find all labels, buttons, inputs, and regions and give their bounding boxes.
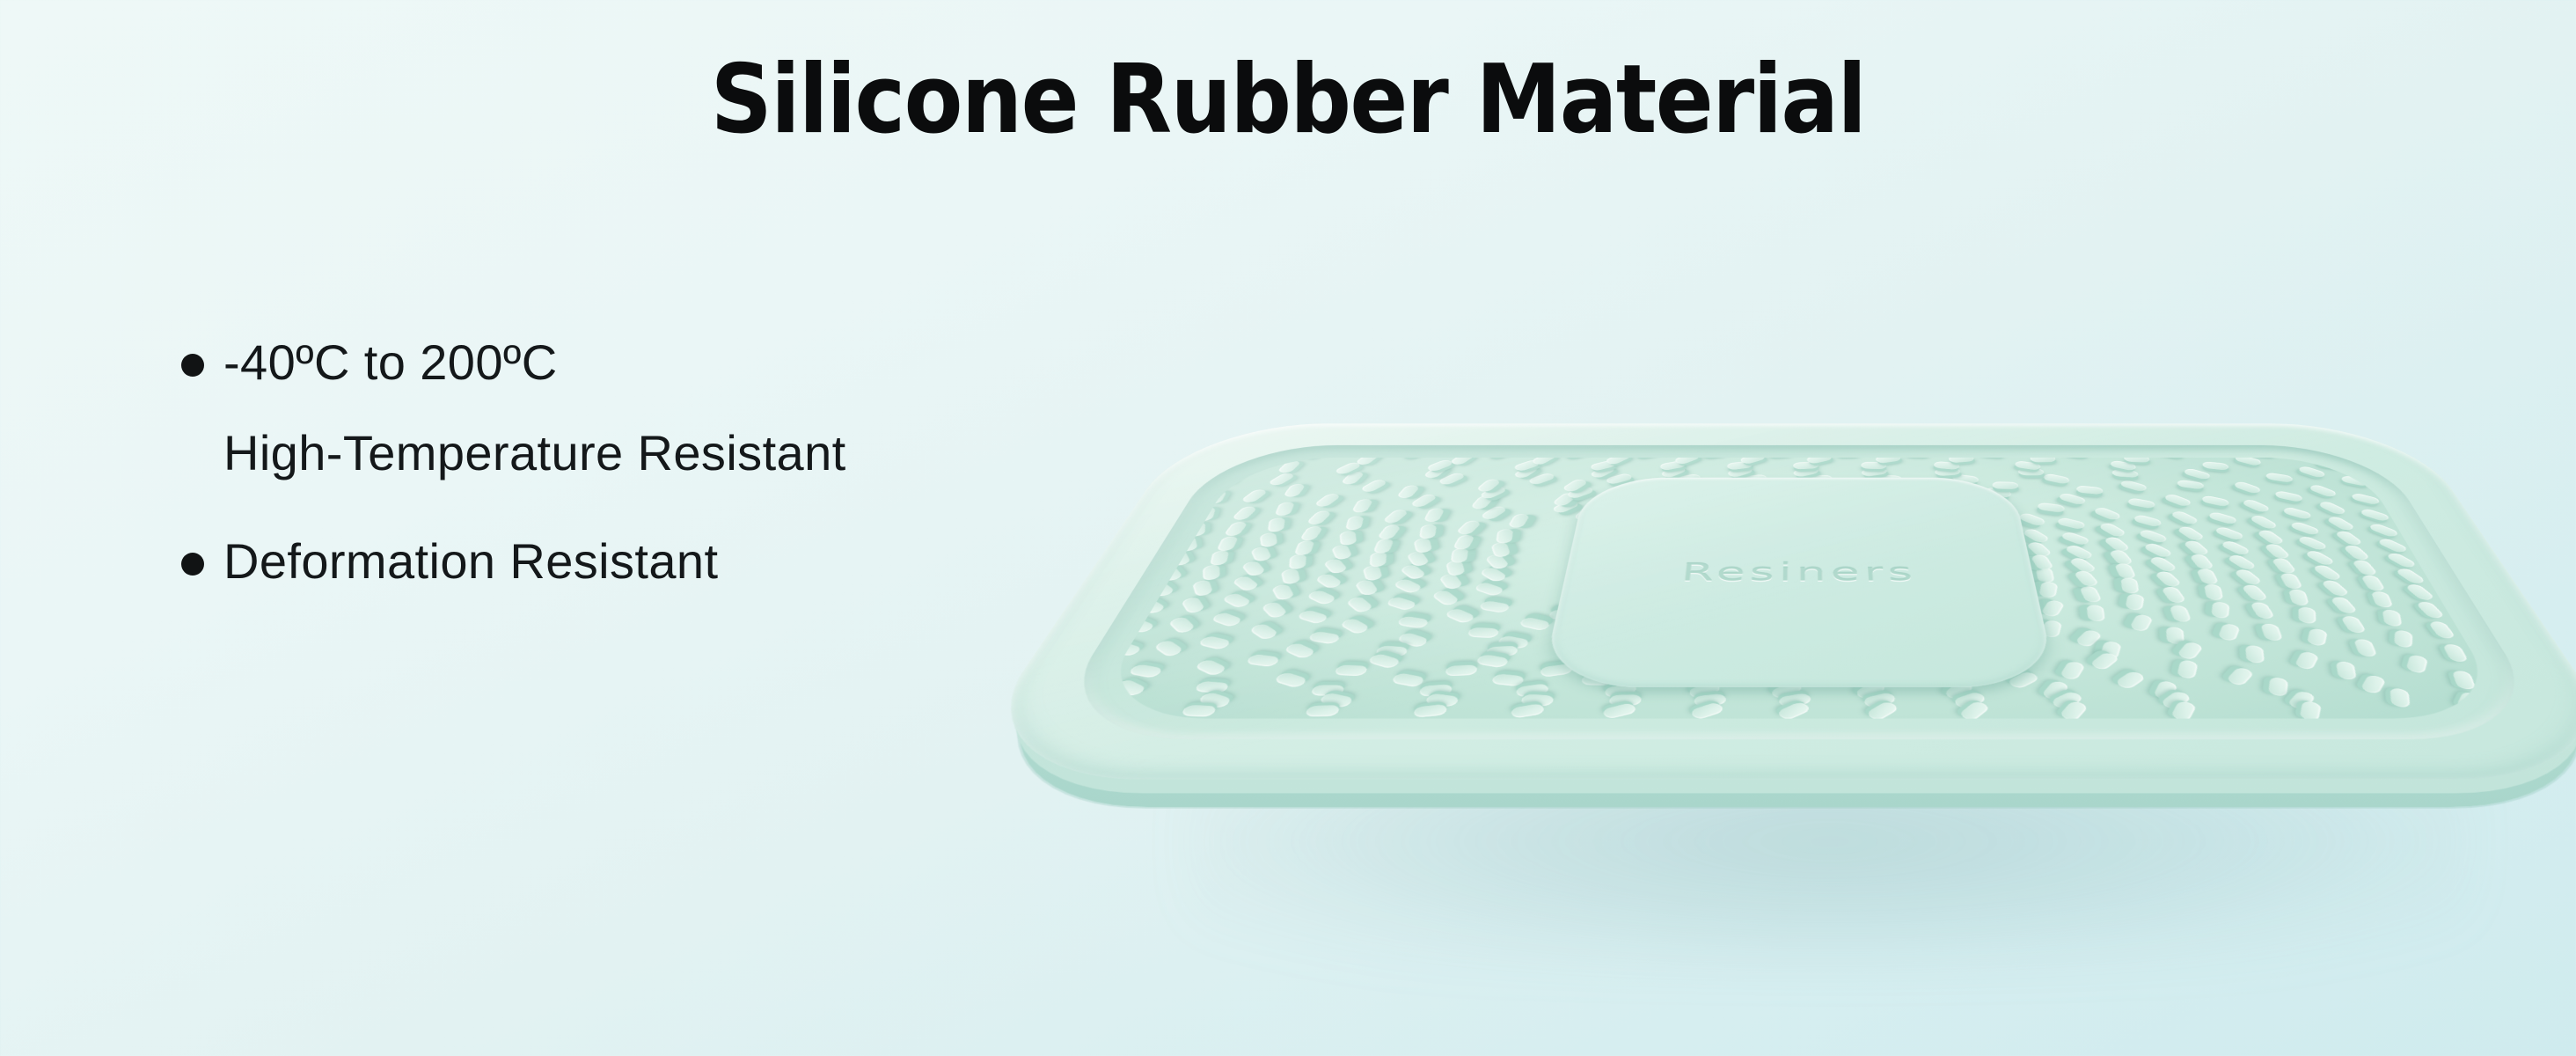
nub bbox=[2089, 651, 2120, 671]
nub bbox=[2288, 589, 2309, 605]
nub bbox=[2124, 458, 2150, 463]
nub bbox=[2041, 680, 2070, 701]
nub bbox=[2452, 671, 2477, 690]
nub bbox=[2260, 624, 2283, 641]
nub bbox=[2087, 605, 2105, 622]
nub bbox=[1367, 653, 1402, 669]
nub bbox=[1997, 581, 2018, 597]
nub bbox=[1496, 634, 1530, 649]
nub bbox=[2029, 458, 2056, 463]
nub bbox=[1299, 458, 1328, 459]
nub bbox=[2119, 480, 2148, 492]
nub bbox=[1782, 624, 1816, 642]
nub bbox=[2226, 666, 2255, 686]
nub bbox=[1665, 674, 1697, 686]
nub bbox=[1516, 683, 1549, 697]
nub bbox=[2060, 532, 2091, 546]
nub bbox=[1475, 654, 1510, 668]
nub bbox=[2360, 674, 2386, 695]
nub bbox=[2058, 493, 2088, 506]
nub bbox=[1283, 484, 1306, 497]
nub bbox=[1776, 701, 1812, 719]
nub bbox=[1414, 704, 1446, 718]
nub bbox=[2320, 580, 2351, 598]
nub bbox=[1624, 663, 1658, 678]
nub bbox=[1087, 634, 1100, 653]
nub bbox=[1826, 672, 1862, 688]
nub bbox=[2112, 469, 2139, 478]
nub bbox=[2120, 577, 2139, 593]
nub bbox=[1991, 598, 2009, 615]
nub bbox=[2218, 622, 2241, 642]
nub bbox=[1508, 513, 1531, 527]
nub bbox=[1745, 673, 1780, 687]
nub bbox=[1438, 573, 1464, 590]
nub bbox=[1087, 570, 1099, 587]
nub bbox=[2049, 691, 2084, 710]
nub bbox=[1241, 561, 1267, 577]
nub bbox=[1166, 488, 1194, 502]
nub bbox=[1370, 552, 1387, 568]
nub bbox=[1224, 522, 1248, 536]
nub bbox=[1153, 640, 1184, 658]
nub bbox=[1123, 618, 1156, 634]
nub bbox=[2241, 498, 2272, 513]
nub bbox=[1478, 600, 1511, 613]
nub bbox=[2340, 616, 2367, 633]
nub bbox=[2307, 627, 2328, 647]
mat-textured-floor: Resiners bbox=[1087, 458, 2512, 719]
nub bbox=[1345, 516, 1364, 530]
nub bbox=[1108, 641, 1144, 656]
nub bbox=[2263, 544, 2291, 560]
nub bbox=[1373, 539, 1394, 554]
nub bbox=[2169, 605, 2192, 621]
feature-line-secondary: High-Temperature Resistant bbox=[223, 425, 846, 482]
nub bbox=[1118, 510, 1137, 525]
nub bbox=[1211, 612, 1244, 627]
nub bbox=[2385, 552, 2418, 568]
nub bbox=[1087, 694, 1118, 708]
nub bbox=[2415, 601, 2445, 619]
nub bbox=[1728, 654, 1760, 667]
nub bbox=[1354, 579, 1379, 597]
nub bbox=[1299, 526, 1324, 540]
nub bbox=[2382, 609, 2403, 627]
nub bbox=[2360, 576, 2386, 591]
nub bbox=[1396, 632, 1431, 649]
nub bbox=[1168, 550, 1190, 567]
nub bbox=[1564, 627, 1594, 639]
nub bbox=[1455, 520, 1482, 535]
nub bbox=[2113, 563, 2136, 579]
nub bbox=[2220, 540, 2251, 556]
nub bbox=[1359, 479, 1388, 493]
nub bbox=[2334, 531, 2364, 546]
nub bbox=[2036, 568, 2055, 583]
nub bbox=[1377, 524, 1401, 539]
nub bbox=[1680, 619, 1710, 628]
nub bbox=[2297, 466, 2327, 479]
feature-item-temperature: -40ºC to 200ºC High-Temperature Resistan… bbox=[181, 334, 1149, 482]
nub bbox=[1746, 617, 1779, 630]
nub bbox=[1097, 540, 1116, 556]
nub bbox=[1351, 499, 1373, 512]
nub bbox=[1453, 535, 1475, 550]
nub bbox=[2006, 671, 2040, 690]
nub bbox=[1210, 550, 1229, 566]
nub bbox=[1704, 662, 1739, 679]
nub bbox=[2248, 514, 2279, 530]
nub bbox=[1250, 546, 1272, 562]
nub bbox=[1631, 609, 1662, 621]
nub bbox=[1485, 458, 1514, 458]
nub bbox=[1314, 493, 1342, 508]
nub bbox=[1197, 507, 1216, 521]
nub bbox=[1833, 605, 1863, 624]
nub bbox=[1260, 601, 1288, 620]
nub bbox=[2201, 495, 2230, 508]
nub bbox=[1087, 613, 1112, 632]
nub bbox=[1888, 652, 1923, 670]
nub bbox=[1577, 645, 1609, 658]
nub bbox=[2176, 525, 2206, 541]
nub bbox=[1087, 555, 1108, 572]
silicone-mat: Resiners bbox=[950, 423, 2576, 779]
nub bbox=[1815, 616, 1848, 632]
nub bbox=[1511, 703, 1545, 719]
nub bbox=[1112, 678, 1147, 697]
nub bbox=[1449, 458, 1476, 466]
nub bbox=[1268, 517, 1285, 532]
nub bbox=[2031, 554, 2054, 570]
nub bbox=[2039, 582, 2059, 598]
nub bbox=[1196, 692, 1233, 709]
nub bbox=[2208, 511, 2239, 524]
nub bbox=[2100, 641, 2122, 660]
nub bbox=[1390, 672, 1426, 687]
nub bbox=[1194, 659, 1228, 678]
nub bbox=[1865, 700, 1900, 719]
product-image: Resiners bbox=[1082, 264, 2576, 933]
nub bbox=[2177, 641, 2204, 660]
nub bbox=[1112, 578, 1131, 596]
nub bbox=[1100, 594, 1123, 612]
nub bbox=[1289, 554, 1306, 569]
nub bbox=[1581, 675, 1614, 686]
nub bbox=[1189, 522, 1205, 537]
nub bbox=[1127, 664, 1164, 678]
nub bbox=[2153, 680, 2178, 701]
nub bbox=[2073, 570, 2100, 587]
nub bbox=[2404, 583, 2435, 601]
feature-row: -40ºC to 200ºC High-Temperature Resistan… bbox=[181, 334, 1149, 482]
nub bbox=[1548, 610, 1580, 620]
nub bbox=[1451, 548, 1468, 563]
nub bbox=[1518, 616, 1552, 631]
nub bbox=[2170, 510, 2200, 525]
nub bbox=[1496, 529, 1513, 543]
nub bbox=[1437, 472, 1466, 486]
page-title: Silicone Rubber Material bbox=[0, 46, 2576, 155]
nub bbox=[1854, 680, 1888, 700]
nub bbox=[2279, 573, 2302, 588]
nub bbox=[2350, 493, 2380, 506]
nub bbox=[1386, 596, 1419, 611]
nub bbox=[2074, 628, 2103, 648]
nub bbox=[2196, 568, 2219, 583]
nub bbox=[2137, 529, 2169, 544]
nub bbox=[1128, 495, 1149, 509]
nub bbox=[1609, 695, 1642, 707]
nub bbox=[1363, 565, 1383, 582]
nub bbox=[1867, 661, 1900, 680]
nub bbox=[1642, 626, 1674, 640]
nub bbox=[2376, 538, 2409, 554]
nub bbox=[1893, 615, 1926, 633]
nub bbox=[2182, 468, 2211, 480]
nub bbox=[1147, 520, 1173, 534]
nub bbox=[2367, 523, 2400, 538]
nub bbox=[1918, 605, 1943, 624]
nub bbox=[1181, 705, 1218, 717]
nub bbox=[1980, 651, 2014, 670]
nub bbox=[2092, 506, 2123, 521]
nub bbox=[1273, 671, 1309, 688]
nub bbox=[1179, 536, 1198, 552]
nub bbox=[2114, 671, 2147, 691]
nub bbox=[1314, 573, 1343, 590]
nub bbox=[2311, 564, 2343, 581]
bullet-dot-icon bbox=[181, 354, 204, 377]
nub bbox=[1689, 701, 1725, 718]
nub bbox=[2154, 570, 2183, 587]
nub bbox=[1420, 524, 1438, 539]
nub bbox=[1306, 510, 1332, 525]
nub bbox=[1156, 459, 1181, 472]
nub bbox=[1192, 579, 1213, 597]
nub bbox=[2037, 502, 2065, 513]
nub bbox=[1345, 596, 1374, 613]
nub bbox=[2056, 517, 2087, 530]
nub bbox=[1382, 509, 1409, 524]
nub bbox=[2127, 497, 2156, 509]
nub bbox=[2282, 507, 2313, 520]
nub bbox=[1698, 607, 1731, 622]
nub bbox=[2041, 620, 2062, 638]
nub bbox=[2250, 602, 2276, 619]
nub bbox=[2177, 480, 2204, 490]
feature-item-deformation: Deformation Resistant bbox=[181, 533, 1149, 590]
nub bbox=[1334, 665, 1369, 677]
nub bbox=[1267, 472, 1296, 486]
nub bbox=[2133, 514, 2163, 527]
nub bbox=[1221, 592, 1253, 609]
nub bbox=[1296, 609, 1330, 624]
nub bbox=[2268, 677, 2288, 697]
nub bbox=[2296, 536, 2329, 552]
nub bbox=[1527, 473, 1557, 486]
feature-line-primary: -40ºC to 200ºC bbox=[223, 334, 846, 392]
nub bbox=[2148, 556, 2178, 573]
nub bbox=[1331, 544, 1353, 561]
nub bbox=[2177, 659, 2198, 679]
nub bbox=[1177, 469, 1206, 483]
nub bbox=[2352, 560, 2379, 576]
nub bbox=[2343, 545, 2372, 561]
nub bbox=[1147, 581, 1176, 598]
nub bbox=[2304, 550, 2337, 567]
nub bbox=[2316, 458, 2342, 468]
nub bbox=[2325, 516, 2356, 532]
nub bbox=[1977, 633, 2009, 651]
nub bbox=[1270, 583, 1294, 601]
nub bbox=[1281, 568, 1300, 584]
feature-list: -40ºC to 200ºC High-Temperature Resistan… bbox=[181, 334, 1149, 642]
nub bbox=[2245, 645, 2265, 664]
nub bbox=[1951, 691, 1987, 709]
nub bbox=[1138, 534, 1162, 548]
nub bbox=[2265, 473, 2293, 483]
nub bbox=[2289, 521, 2321, 536]
nub bbox=[2159, 690, 2192, 710]
nub bbox=[1584, 636, 1618, 648]
nub bbox=[2214, 526, 2246, 541]
nub bbox=[2340, 475, 2368, 487]
nub bbox=[1806, 653, 1841, 669]
nub bbox=[1687, 681, 1723, 699]
mat-recessed-tray: Resiners bbox=[1040, 445, 2559, 739]
nub bbox=[1862, 692, 1899, 708]
nub bbox=[1375, 646, 1409, 657]
nub bbox=[1445, 664, 1478, 676]
nub bbox=[1988, 642, 2016, 661]
nub bbox=[2040, 599, 2065, 618]
nub bbox=[2203, 461, 2228, 470]
mat-top-face: Resiners bbox=[950, 423, 2576, 779]
nub bbox=[1400, 563, 1428, 580]
nub bbox=[1769, 681, 1804, 700]
nub bbox=[2371, 591, 2394, 607]
feature-text-group: -40ºC to 200ºC High-Temperature Resistan… bbox=[223, 334, 846, 482]
nub bbox=[1473, 582, 1505, 597]
nub bbox=[1763, 606, 1797, 624]
nub bbox=[1293, 540, 1314, 555]
nub bbox=[1123, 563, 1140, 580]
nub bbox=[1423, 508, 1445, 522]
nub bbox=[1784, 661, 1819, 679]
nub bbox=[1322, 558, 1348, 575]
nub bbox=[1339, 531, 1356, 546]
nub bbox=[1467, 627, 1501, 638]
nub bbox=[2241, 584, 2269, 602]
nub bbox=[2406, 654, 2428, 674]
nub bbox=[1712, 625, 1746, 642]
nub bbox=[1395, 485, 1420, 499]
nub bbox=[1664, 637, 1694, 648]
nub bbox=[2256, 529, 2286, 545]
nub bbox=[1601, 702, 1637, 719]
nub bbox=[1811, 642, 1844, 661]
nub bbox=[1992, 482, 2019, 489]
nub bbox=[1987, 613, 2017, 632]
nub bbox=[2427, 621, 2456, 639]
nub bbox=[1606, 618, 1638, 630]
nub bbox=[1423, 693, 1460, 708]
nub bbox=[2129, 613, 2154, 632]
nub bbox=[2353, 639, 2378, 656]
nub bbox=[1486, 646, 1518, 656]
nub bbox=[2317, 501, 2348, 516]
nub bbox=[2271, 558, 2297, 574]
nub bbox=[1409, 494, 1438, 509]
nub bbox=[2274, 490, 2303, 502]
nub bbox=[2189, 554, 2215, 569]
nub bbox=[1338, 617, 1371, 634]
nub bbox=[1650, 656, 1681, 666]
nub bbox=[1217, 536, 1240, 550]
nub bbox=[2232, 480, 2262, 494]
nub bbox=[1735, 635, 1767, 649]
nub bbox=[2441, 644, 2468, 662]
nub bbox=[1807, 634, 1841, 650]
nub bbox=[1444, 607, 1476, 624]
nub bbox=[1540, 664, 1572, 678]
nub bbox=[2336, 661, 2357, 680]
nub bbox=[2060, 660, 2086, 680]
nub bbox=[1414, 538, 1433, 554]
nub bbox=[2183, 539, 2211, 555]
nub bbox=[2300, 700, 2322, 719]
nub bbox=[2097, 522, 2127, 538]
nub bbox=[1562, 458, 1590, 458]
nub bbox=[1777, 693, 1812, 708]
nub bbox=[1603, 682, 1638, 699]
feature-row: Deformation Resistant bbox=[181, 533, 1149, 590]
nub bbox=[1306, 589, 1337, 605]
nub bbox=[1275, 502, 1296, 516]
nub bbox=[1946, 623, 1973, 642]
nub bbox=[1109, 525, 1124, 541]
nub bbox=[1420, 684, 1453, 696]
nub bbox=[1393, 578, 1424, 594]
nub bbox=[2204, 584, 2223, 600]
nub bbox=[1232, 576, 1261, 592]
nub bbox=[1260, 532, 1277, 548]
nub bbox=[2161, 586, 2187, 603]
brand-emboss-label: Resiners bbox=[1680, 558, 1918, 587]
nub bbox=[2394, 568, 2426, 584]
nub bbox=[2018, 468, 2045, 475]
nub bbox=[1197, 635, 1233, 650]
nub bbox=[2455, 691, 2481, 712]
nub bbox=[1958, 660, 1988, 680]
nub bbox=[2059, 700, 2089, 718]
nub bbox=[1694, 693, 1727, 707]
nub bbox=[1958, 700, 1992, 719]
nub bbox=[2212, 601, 2230, 619]
nub bbox=[1567, 655, 1600, 666]
nub bbox=[1194, 681, 1231, 694]
nub bbox=[1087, 587, 1089, 604]
nub bbox=[2330, 597, 2359, 614]
nub bbox=[2395, 629, 2413, 649]
nub bbox=[2076, 486, 2103, 495]
nub bbox=[1240, 489, 1269, 503]
nub bbox=[1733, 642, 1767, 660]
nub bbox=[1283, 642, 1317, 660]
nub bbox=[2042, 473, 2071, 485]
